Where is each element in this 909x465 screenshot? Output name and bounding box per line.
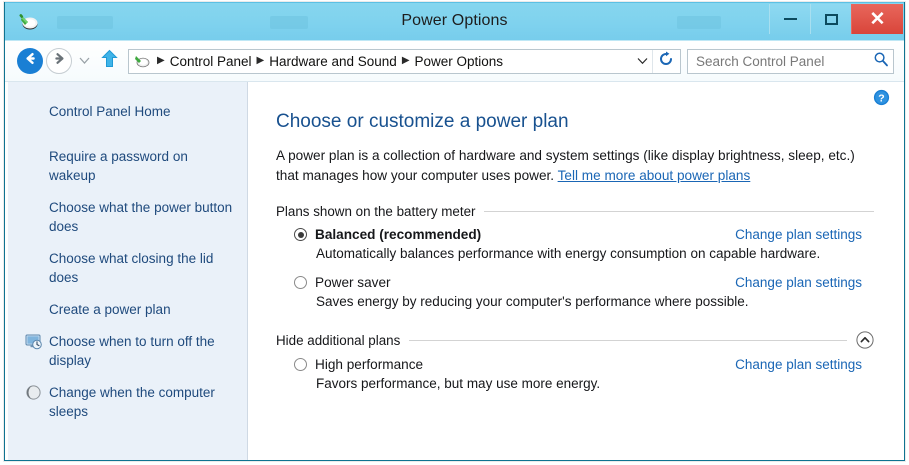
search-box[interactable] [687, 49, 894, 74]
refresh-icon [658, 51, 674, 72]
close-button[interactable]: ✕ [851, 4, 903, 34]
plan-description: Favors performance, but may use more ene… [316, 376, 874, 391]
maximize-button[interactable] [810, 4, 851, 34]
refresh-button[interactable] [652, 50, 678, 73]
maximize-icon [825, 14, 838, 25]
plan-name: Balanced (recommended) [315, 227, 481, 242]
forward-arrow-icon [52, 51, 67, 71]
breadcrumb-separator: ▶ [252, 56, 270, 66]
sidebar-item-label: Change when the computer sleeps [49, 385, 215, 419]
content-pane: ? Choose or customize a power plan A pow… [248, 82, 904, 460]
back-arrow-icon [23, 51, 38, 71]
svg-text:?: ? [878, 92, 884, 104]
tell-me-more-link[interactable]: Tell me more about power plans [558, 168, 751, 183]
sidebar-item-control-panel-home[interactable]: Control Panel Home [5, 102, 247, 121]
back-button[interactable] [17, 48, 43, 74]
radio-power-saver[interactable] [294, 276, 307, 289]
change-plan-settings-link-high-performance[interactable]: Change plan settings [735, 357, 874, 372]
plan-name: High performance [315, 357, 423, 372]
group-divider [409, 340, 847, 341]
navigation-bar: ▶ Control Panel ▶ Hardware and Sound ▶ P… [5, 41, 904, 82]
plan-balanced[interactable]: Balanced (recommended) Change plan setti… [276, 227, 874, 261]
radio-high-performance[interactable] [294, 358, 307, 371]
moon-icon [25, 384, 42, 401]
minimize-icon [784, 18, 797, 20]
sidebar-item-turn-off-the-display[interactable]: Choose when to turn off the display [5, 332, 247, 370]
plan-power-saver[interactable]: Power saver Change plan settings Saves e… [276, 275, 874, 309]
recent-locations-button[interactable] [76, 48, 92, 74]
sidebar-item-require-password-on-wakeup[interactable]: Require a password on wakeup [5, 147, 247, 185]
chevron-down-icon [637, 52, 648, 70]
sidebar-item-label: Choose when to turn off the display [49, 334, 215, 368]
breadcrumb-control-panel[interactable]: Control Panel [170, 54, 252, 69]
sidebar-item-computer-sleeps[interactable]: Change when the computer sleeps [5, 383, 247, 421]
breadcrumb-separator: ▶ [152, 56, 170, 66]
plan-row: High performance Change plan settings [276, 357, 874, 372]
plan-high-performance[interactable]: High performance Change plan settings Fa… [276, 357, 874, 391]
change-plan-settings-link-balanced[interactable]: Change plan settings [735, 227, 874, 242]
breadcrumb-separator: ▶ [397, 56, 415, 66]
plan-row: Balanced (recommended) Change plan setti… [276, 227, 874, 242]
address-dropdown-button[interactable] [632, 50, 652, 73]
window-controls: ✕ [769, 4, 903, 34]
chevron-down-icon [79, 52, 90, 70]
sidebar-item-label: Choose what the power button does [49, 200, 232, 234]
sidebar-item-label: Control Panel Home [49, 104, 171, 119]
intro-paragraph: A power plan is a collection of hardware… [276, 146, 874, 185]
page-title: Choose or customize a power plan [276, 111, 874, 133]
display-icon [25, 333, 42, 350]
plan-description: Saves energy by reducing your computer's… [316, 294, 874, 309]
minimize-button[interactable] [769, 4, 810, 34]
plan-row: Power saver Change plan settings [276, 275, 874, 290]
radio-balanced[interactable] [294, 228, 307, 241]
sidebar-item-closing-the-lid-does[interactable]: Choose what closing the lid does [5, 249, 247, 287]
help-icon[interactable]: ? [873, 89, 890, 106]
group-header-additional-plans: Hide additional plans [276, 331, 874, 349]
close-icon: ✕ [870, 10, 886, 29]
sidebar-item-label: Create a power plan [49, 302, 171, 317]
up-one-level-button[interactable] [96, 48, 122, 74]
sidebar-item-create-a-power-plan[interactable]: Create a power plan [5, 300, 247, 319]
power-options-window: Power Options ✕ [4, 2, 905, 461]
sidebar-item-label: Require a password on wakeup [49, 149, 188, 183]
control-panel-icon [134, 53, 150, 69]
sidebar-item-power-button-does[interactable]: Choose what the power button does [5, 198, 247, 236]
sidebar: Control Panel Home Require a password on… [5, 82, 248, 460]
change-plan-settings-link-power-saver[interactable]: Change plan settings [735, 275, 874, 290]
breadcrumb-power-options[interactable]: Power Options [415, 54, 504, 69]
breadcrumb-hardware-and-sound[interactable]: Hardware and Sound [269, 54, 397, 69]
title-bar: Power Options ✕ [5, 2, 904, 41]
group-header-battery-meter: Plans shown on the battery meter [276, 204, 874, 219]
group-divider [484, 211, 874, 212]
search-input[interactable] [696, 54, 873, 69]
group-title: Hide additional plans [276, 333, 409, 348]
group-title: Plans shown on the battery meter [276, 204, 484, 219]
plan-name: Power saver [315, 275, 391, 290]
forward-button[interactable] [46, 48, 72, 74]
sidebar-item-label: Choose what closing the lid does [49, 251, 213, 285]
plan-description: Automatically balances performance with … [316, 246, 874, 261]
window-body: Control Panel Home Require a password on… [5, 82, 904, 460]
search-icon[interactable] [873, 51, 889, 72]
chevron-up-circle-icon[interactable] [856, 331, 874, 349]
address-bar[interactable]: ▶ Control Panel ▶ Hardware and Sound ▶ P… [128, 49, 681, 74]
up-arrow-icon [101, 49, 118, 73]
